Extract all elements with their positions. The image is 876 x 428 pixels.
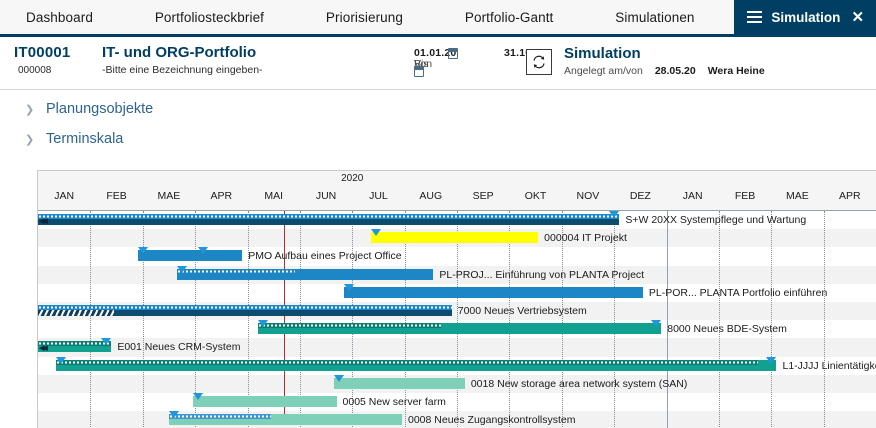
gantt-month-gridline — [509, 211, 510, 428]
gantt-month-gridline — [90, 211, 91, 428]
gantt-bar-fill — [193, 396, 337, 407]
created-by: Wera Heine — [708, 64, 765, 79]
gantt-bar-progress — [169, 414, 271, 419]
gantt-month-label: APR — [195, 190, 247, 202]
gantt-bar[interactable] — [177, 269, 434, 280]
gantt-bar-fill — [344, 287, 643, 298]
gantt-bar-fill — [138, 250, 243, 261]
gantt-start-marker — [334, 375, 344, 382]
tab-portfolio-gantt[interactable]: Portfolio-Gantt — [443, 0, 576, 34]
gantt-month-label: NOV — [562, 190, 614, 202]
gantt-month-label: DEZ — [614, 190, 666, 202]
gantt-month-label: SEP — [457, 190, 509, 202]
section-terminskala[interactable]: ❯ Terminskala — [0, 124, 876, 154]
simulation-title: Simulation — [564, 44, 765, 64]
tab-dashboard[interactable]: Dashboard — [0, 0, 115, 34]
section-planungsobjekte[interactable]: ❯ Planungsobjekte — [0, 94, 876, 124]
tab-label: Dashboard — [26, 10, 93, 25]
record-id: IT00001 — [14, 43, 102, 63]
record-subid: 000008 — [14, 63, 102, 78]
tab-label: Priorisierung — [326, 10, 403, 25]
gantt-bar[interactable] — [38, 305, 452, 316]
gantt-month-gridline — [143, 211, 144, 428]
tab-label: Portfoliosteckbrief — [155, 10, 264, 25]
gantt-bar-label: PL-PROJ... Einführung von PLANTA Project — [439, 270, 644, 281]
gantt-month-label: JAN — [667, 190, 719, 202]
gantt-bar-progress — [56, 360, 758, 365]
gantt-start-marker — [138, 247, 148, 254]
gantt-start-marker — [344, 284, 354, 291]
gantt-month-label: APR — [824, 190, 876, 202]
gantt-bar-progress — [258, 323, 441, 328]
tab-label: Portfolio-Gantt — [465, 10, 554, 25]
gantt-bar-rewind-icon: ◀◀ — [39, 216, 46, 227]
section-label: Terminskala — [46, 131, 123, 147]
gantt-bar[interactable] — [169, 414, 402, 425]
tab-simulationen[interactable]: Simulationen — [593, 0, 716, 34]
gantt-end-marker — [766, 357, 776, 364]
gantt-bar[interactable] — [344, 287, 643, 298]
gantt-month-label: MAI — [248, 190, 300, 202]
gantt-rows[interactable]: ◀◀S+W 20XX Systempflege und Wartung00000… — [38, 211, 876, 428]
gantt-bar-progress — [38, 341, 111, 346]
gantt-bar-label: PMO Aufbau eines Project Office — [248, 251, 401, 262]
gantt-bar-progress — [38, 305, 452, 310]
gantt-month-label: AUG — [405, 190, 457, 202]
tab-priorisierung[interactable]: Priorisierung — [304, 0, 425, 34]
gantt-month-label: MAE — [771, 190, 823, 202]
refresh-icon — [531, 54, 547, 70]
gantt-month-gridline — [719, 211, 720, 428]
record-header: IT00001 000008 IT- und ORG-Portfolio -Bi… — [0, 37, 876, 90]
tab-label: Simulation — [771, 10, 840, 25]
gantt-year-label: 2020 — [38, 173, 667, 184]
gantt-end-marker — [609, 211, 619, 218]
date-range-block: Von 01.01.20 Bis 31.10.21 — [414, 43, 518, 85]
main-tab-bar: Dashboard Portfoliosteckbrief Priorisier… — [0, 0, 876, 37]
gantt-bar-fill — [334, 378, 465, 389]
gantt-bar[interactable] — [56, 360, 776, 371]
close-icon[interactable]: ✕ — [849, 10, 864, 25]
gantt-chart[interactable]: 2020JANFEBMAEAPRMAIJUNJULAUGSEPOKTNOVDEZ… — [37, 170, 876, 428]
gantt-month-gridline — [771, 211, 772, 428]
gantt-bar[interactable] — [371, 232, 539, 243]
gantt-mid-marker — [198, 247, 208, 254]
gantt-end-marker — [651, 320, 661, 327]
created-date: 28.05.20 — [655, 64, 696, 79]
gantt-bar-fill — [371, 232, 539, 243]
chevron-right-icon[interactable]: ❯ — [25, 103, 33, 116]
gantt-timescale-header: 2020JANFEBMAEAPRMAIJUNJULAUGSEPOKTNOVDEZ… — [38, 171, 876, 211]
calendar-icon[interactable] — [414, 66, 424, 77]
tab-label: Simulationen — [615, 10, 694, 25]
tab-portfoliosteckbrief[interactable]: Portfoliosteckbrief — [133, 0, 286, 34]
gantt-bar-label: E001 Neues CRM-System — [117, 342, 240, 353]
gantt-month-label: JUL — [352, 190, 404, 202]
gantt-bar[interactable]: ◀◀ — [38, 341, 111, 352]
tab-simulation-active[interactable]: Simulation ✕ — [734, 0, 876, 34]
hamburger-icon[interactable] — [747, 11, 762, 23]
gantt-end-marker — [101, 338, 111, 345]
bis-value[interactable]: 31.10.21 — [504, 47, 518, 59]
tab-gap — [717, 0, 735, 34]
simulation-meta: Angelegt am/von 28.05.20 Wera Heine — [564, 64, 765, 79]
gantt-bar[interactable] — [193, 396, 337, 407]
gantt-bar-label: 0018 New storage area network system (SA… — [471, 379, 688, 390]
gantt-bar[interactable] — [138, 250, 243, 261]
gantt-bar[interactable]: ◀◀ — [38, 214, 619, 225]
record-id-block: IT00001 000008 — [0, 43, 102, 85]
gantt-bar-progress — [38, 214, 619, 219]
gantt-start-marker — [56, 357, 66, 364]
app-root: Dashboard Portfoliosteckbrief Priorisier… — [0, 0, 876, 428]
gantt-bar-label: L1-JJJJ Linientätigkeiten JJJJ — [782, 361, 876, 372]
record-name-block: IT- und ORG-Portfolio -Bitte eine Bezeic… — [102, 43, 414, 85]
gantt-month-label: FEB — [90, 190, 142, 202]
gantt-start-marker — [177, 266, 187, 273]
gantt-month-gridline — [824, 211, 825, 428]
gantt-bar-label: 7000 Neues Vertriebsystem — [458, 306, 587, 317]
section-label: Planungsobjekte — [46, 101, 153, 117]
gantt-year-divider — [667, 211, 668, 428]
gantt-start-marker — [193, 393, 203, 400]
tab-gap — [115, 0, 133, 34]
gantt-start-marker — [371, 229, 381, 236]
gantt-bar[interactable] — [258, 323, 661, 334]
gantt-month-label: JUN — [300, 190, 352, 202]
gantt-bar-label: S+W 20XX Systempflege und Wartung — [625, 215, 806, 226]
gantt-month-label: JAN — [38, 190, 90, 202]
gantt-bar-rewind-icon: ◀◀ — [39, 343, 46, 354]
tab-gap — [425, 0, 443, 34]
gantt-month-label: OKT — [509, 190, 561, 202]
gantt-bar-progress — [177, 269, 295, 274]
chevron-down-icon[interactable]: ❯ — [25, 133, 33, 146]
created-label: Angelegt am/von — [564, 64, 643, 79]
gantt-month-label: MAE — [143, 190, 195, 202]
tab-gap — [575, 0, 593, 34]
calendar-icon[interactable] — [448, 48, 458, 59]
gantt-bar-label: 000004 IT Projekt — [544, 233, 627, 244]
gantt-month-gridline — [457, 211, 458, 428]
portfolio-description-placeholder[interactable]: -Bitte eine Bezeichnung eingeben- — [102, 63, 414, 78]
tab-gap — [286, 0, 304, 34]
portfolio-name[interactable]: IT- und ORG-Portfolio — [102, 43, 414, 63]
gantt-month-label: FEB — [719, 190, 771, 202]
refresh-button[interactable] — [526, 49, 552, 75]
gantt-bar-label: 0005 New server farm — [343, 397, 446, 408]
gantt-bar-label: 0008 Neues Zugangskontrollsystem — [408, 415, 576, 426]
gantt-bar-label: PL-POR... PLANTA Portfolio einführen — [649, 288, 827, 299]
gantt-bar[interactable] — [334, 378, 465, 389]
gantt-bar-label: 8000 Neues BDE-System — [667, 324, 787, 335]
simulation-block: Simulation Angelegt am/von 28.05.20 Wera… — [564, 43, 765, 85]
gantt-start-marker — [169, 411, 179, 418]
gantt-start-marker — [258, 320, 268, 327]
